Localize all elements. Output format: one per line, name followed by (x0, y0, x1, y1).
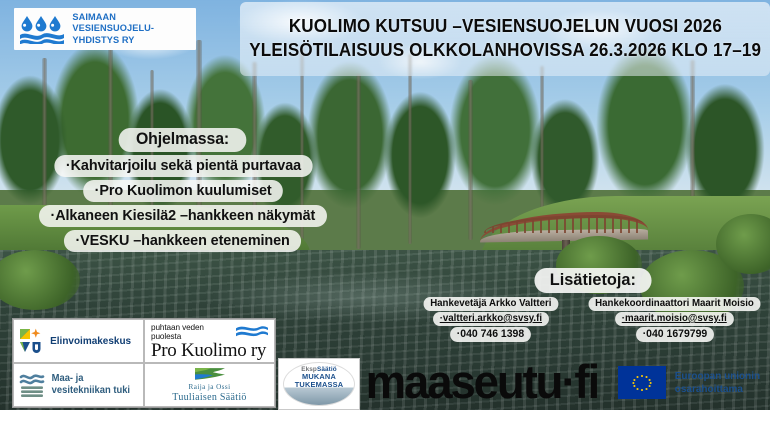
eksp-saatio-line3: TUKEMASSA (295, 381, 344, 389)
mvt-label-line1: Maa- ja (52, 373, 84, 384)
contact-name: Hankekoordinaattori Maarit Moisio (589, 297, 761, 311)
organization-logo: SAIMAAN VESIENSUOJELU- YHDISTYS RY (14, 8, 196, 50)
contact-info-section: Lisätietoja: Hankevetäjä Arkko Valtteri … (420, 268, 765, 342)
program-item: ·Pro Kuolimon kuulumiset (83, 180, 283, 202)
logo-eu-funding: Euroopan unionin osarahoittama (618, 366, 762, 399)
blue-waves-icon (236, 324, 268, 340)
maa-ja-vesitekniikan-tuki-label: Maa- ja vesitekniikan tuki (52, 373, 130, 397)
pro-kuolimo-name: Pro Kuolimo ry (151, 341, 266, 360)
contact-card: Hankevetäjä Arkko Valtteri ·valtteri.ark… (420, 297, 562, 342)
waves-over-bars-icon (19, 372, 45, 398)
tree-trunk (540, 66, 544, 216)
elinvoimakeskus-squares-icon (19, 328, 43, 354)
program-item: ·Kahvitarjoilu sekä pientä purtavaa (54, 155, 312, 177)
contact-card: Hankekoordinaattori Maarit Moisio ·maari… (584, 297, 765, 342)
logo-elinvoimakeskus: Elinvoimakeskus (13, 319, 144, 363)
contact-phone[interactable]: ·040 1679799 (636, 327, 714, 342)
contact-email[interactable]: ·valtteri.arkko@svsy.fi (433, 312, 549, 326)
eu-flag-icon (618, 366, 666, 399)
poster-title: KUOLIMO KUTSUU –VESIENSUOJELUN VUOSI 202… (288, 15, 721, 37)
bridge-railing (484, 215, 644, 233)
logo-pro-kuolimo: puhtaan veden puolesta Pro Kuolimo ry (144, 319, 275, 363)
program-item: ·VESKU –hankkeen eteneminen (64, 230, 301, 252)
mvt-label-line2: vesitekniikan tuki (52, 385, 130, 396)
logo-maa-ja-vesitekniikan-tuki: Maa- ja vesitekniikan tuki (13, 363, 144, 407)
tree-trunk (468, 80, 473, 240)
poster-subtitle: YLEISÖTILAISUUS OLKKOLANHOVISSA 26.3.202… (249, 39, 761, 61)
bottom-white-strip (0, 410, 770, 433)
logo-eksp-saatio: EkspSäätiö MUKANA TUKEMASSA (278, 358, 360, 410)
contact-info-title: Lisätietoja: (534, 268, 651, 293)
organization-name-line1: SAIMAAN VESIENSUOJELU- (72, 12, 187, 35)
contact-phone[interactable]: ·040 746 1398 (450, 327, 531, 342)
logo-tuuliaisen-saatio: Raija ja Ossi Tuuliaisen Säätiö (144, 363, 275, 407)
eksp-saatio-badge: EkspSäätiö MUKANA TUKEMASSA (283, 362, 355, 406)
contact-columns: Hankevetäjä Arkko Valtteri ·valtteri.ark… (420, 297, 765, 342)
contact-name: Hankevetäjä Arkko Valtteri (424, 297, 559, 311)
program-callout: Ohjelmassa: ·Kahvitarjoilu sekä pientä p… (18, 128, 348, 252)
contact-email[interactable]: ·maarit.moisio@svsy.fi (615, 312, 733, 326)
eu-funding-label: Euroopan unionin osarahoittama (675, 370, 760, 396)
eu-label-line2: osarahoittama (675, 384, 743, 395)
water-drops-waves-icon (20, 14, 64, 44)
pro-kuolimo-tagline: puhtaan veden puolesta (151, 323, 232, 341)
organization-name-line2: YHDISTYS RY (72, 35, 187, 46)
event-poster: SAIMAAN VESIENSUOJELU- YHDISTYS RY KUOLI… (0, 0, 770, 433)
tree-trunk (356, 74, 361, 249)
eu-label-line1: Euroopan unionin (675, 371, 760, 382)
program-title: Ohjelmassa: (119, 128, 247, 152)
tuuliaisen-saatio-line1: Raija ja Ossi (189, 383, 231, 391)
tuuliaisen-saatio-line2: Tuuliaisen Säätiö (172, 392, 246, 403)
tree-trunk (408, 54, 412, 244)
sponsor-logo-grid: Elinvoimakeskus puhtaan veden puolesta P… (12, 318, 276, 408)
pro-kuolimo-top-row: puhtaan veden puolesta (151, 323, 268, 341)
elinvoimakeskus-label: Elinvoimakeskus (50, 335, 131, 347)
organization-name: SAIMAAN VESIENSUOJELU- YHDISTYS RY (72, 12, 187, 46)
maaseutu-wordmark: maaseutu·fi (366, 358, 598, 405)
program-item: ·Alkaneen Kiesilä2 –hankkeen näkymät (39, 205, 327, 227)
green-blue-lake-icon (182, 367, 238, 382)
header-banner: KUOLIMO KUTSUU –VESIENSUOJELUN VUOSI 202… (240, 2, 770, 76)
